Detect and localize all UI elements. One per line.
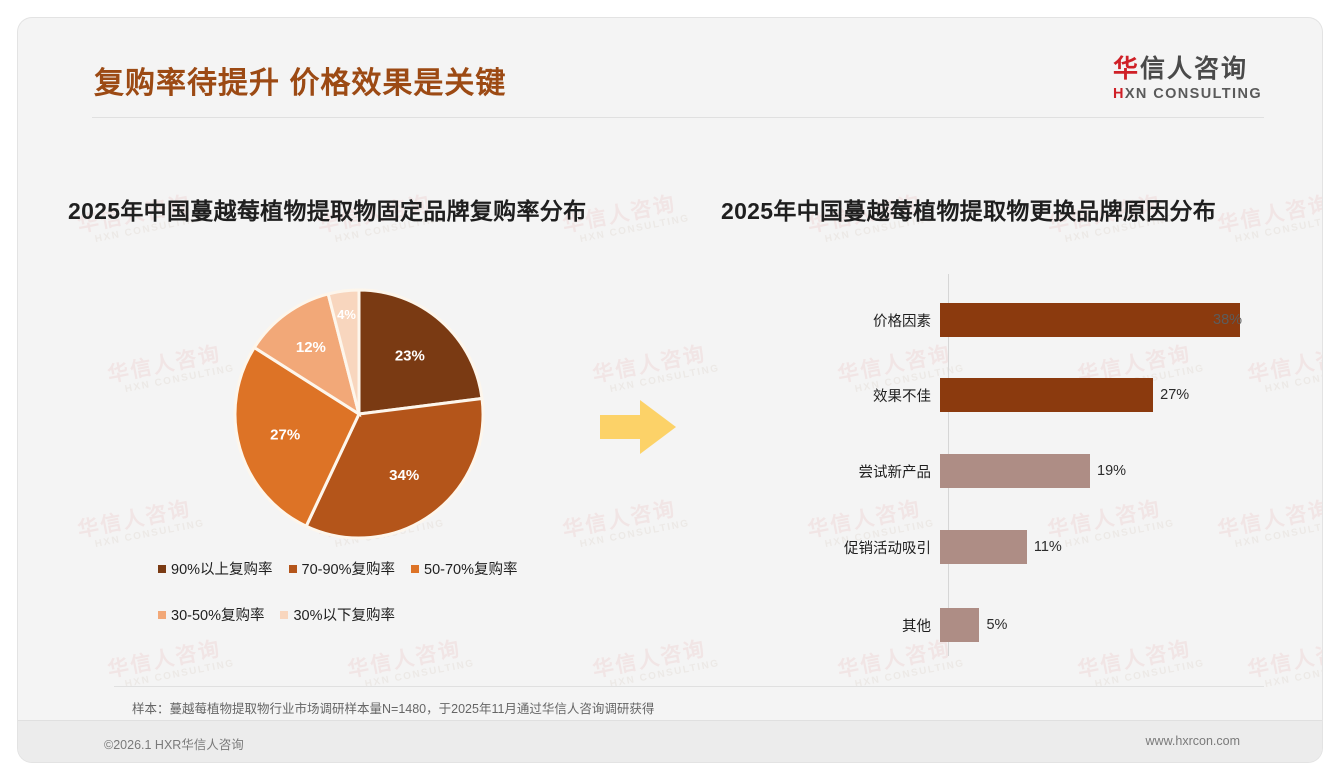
logo-english-rest: XN CONSULTING xyxy=(1125,86,1262,102)
legend-item[interactable]: 50-70%复购率 xyxy=(411,558,517,579)
right-chart-title: 2025年中国蔓越莓植物提取物更换品牌原因分布 xyxy=(721,192,1216,226)
bar-track: 27% xyxy=(940,378,1278,412)
bar-row: 其他5% xyxy=(718,608,1278,642)
pie-slice-label: 12% xyxy=(296,339,326,356)
bar-row: 效果不佳27% xyxy=(718,378,1278,412)
pie-slice-label: 34% xyxy=(389,467,419,484)
bar-value-label: 38% xyxy=(1213,312,1242,328)
watermark-text: 华信人咨询HXN CONSULTING xyxy=(591,636,721,692)
bar-category-label: 尝试新产品 xyxy=(718,461,940,482)
bar-fill[interactable] xyxy=(940,454,1090,488)
legend-label: 90%以上复购率 xyxy=(171,558,273,579)
watermark-text: 华信人咨询HXN CONSULTING xyxy=(1216,191,1322,247)
pie-slice-label: 4% xyxy=(337,307,356,322)
slide-footer: ©2026.1 HXR华信人咨询 www.hxrcon.com xyxy=(18,720,1322,762)
legend-swatch-icon xyxy=(280,611,288,619)
watermark-text: 华信人咨询HXN CONSULTING xyxy=(561,496,691,552)
logo-chinese-rest: 信人咨询 xyxy=(1140,55,1248,83)
bar-value-label: 19% xyxy=(1097,463,1126,479)
pie-svg: 23%34%27%12%4% xyxy=(233,288,485,540)
logo-english-first-char: H xyxy=(1113,86,1125,102)
bar-category-label: 效果不佳 xyxy=(718,385,940,406)
logo-english: HXN CONSULTING xyxy=(1113,86,1262,102)
left-chart-title: 2025年中国蔓越莓植物提取物固定品牌复购率分布 xyxy=(68,192,586,226)
bar-fill[interactable] xyxy=(940,608,979,642)
legend-label: 30-50%复购率 xyxy=(171,604,264,625)
bar-track: 5% xyxy=(940,608,1278,642)
legend-item[interactable]: 30%以下复购率 xyxy=(280,604,395,625)
bar-track: 11% xyxy=(940,530,1278,564)
footnote-text: 样本：蔓越莓植物提取物行业市场调研样本量N=1480，于2025年11月通过华信… xyxy=(132,698,654,717)
logo-chinese: 华信人咨询 xyxy=(1113,56,1262,84)
pie-slice-label: 23% xyxy=(395,347,425,364)
right-arrow-svg xyxy=(600,398,676,456)
pie-slice-label: 27% xyxy=(270,426,300,443)
company-logo: 华信人咨询 HXN CONSULTING xyxy=(1113,56,1262,102)
legend-item[interactable]: 30-50%复购率 xyxy=(158,604,264,625)
right-arrow-icon xyxy=(600,398,676,456)
watermark-text: 华信人咨询HXN CONSULTING xyxy=(591,341,721,397)
page-title: 复购率待提升 价格效果是关键 xyxy=(94,58,506,102)
bar-value-label: 27% xyxy=(1160,387,1189,403)
bar-track: 19% xyxy=(940,454,1278,488)
watermark-text: 华信人咨询HXN CONSULTING xyxy=(76,496,206,552)
watermark-text: 华信人咨询HXN CONSULTING xyxy=(106,341,236,397)
bar-category-label: 价格因素 xyxy=(718,310,940,331)
legend-swatch-icon xyxy=(411,565,419,573)
bar-row: 促销活动吸引11% xyxy=(718,530,1278,564)
legend-swatch-icon xyxy=(289,565,297,573)
header-divider xyxy=(92,117,1264,118)
footnote-divider xyxy=(114,686,1264,687)
repurchase-rate-pie-chart: 23%34%27%12%4% xyxy=(233,288,485,540)
legend-row: 90%以上复购率70-90%复购率50-70%复购率 xyxy=(158,558,588,579)
bar-value-label: 5% xyxy=(986,617,1007,633)
switch-reason-bar-chart: 价格因素38%效果不佳27%尝试新产品19%促销活动吸引11%其他5% xyxy=(718,274,1278,664)
bar-category-label: 其他 xyxy=(718,615,940,636)
bar-value-label: 11% xyxy=(1034,539,1062,555)
footer-website[interactable]: www.hxrcon.com xyxy=(1146,734,1240,748)
legend-item[interactable]: 90%以上复购率 xyxy=(158,558,273,579)
logo-chinese-first-char: 华 xyxy=(1113,55,1140,83)
pie-legend: 90%以上复购率70-90%复购率50-70%复购率30-50%复购率30%以下… xyxy=(158,558,588,650)
legend-label: 30%以下复购率 xyxy=(293,604,395,625)
bar-category-label: 促销活动吸引 xyxy=(718,537,940,558)
legend-item[interactable]: 70-90%复购率 xyxy=(289,558,395,579)
bar-track: 38% xyxy=(940,303,1278,337)
legend-label: 50-70%复购率 xyxy=(424,558,517,579)
legend-swatch-icon xyxy=(158,611,166,619)
bar-fill[interactable] xyxy=(940,303,1240,337)
slide-canvas: 华信人咨询HXN CONSULTING华信人咨询HXN CONSULTING华信… xyxy=(18,18,1322,762)
legend-label: 70-90%复购率 xyxy=(302,558,395,579)
legend-row: 30-50%复购率30%以下复购率 xyxy=(158,604,588,625)
legend-swatch-icon xyxy=(158,565,166,573)
bar-row: 尝试新产品19% xyxy=(718,454,1278,488)
bar-fill[interactable] xyxy=(940,530,1027,564)
bar-row: 价格因素38% xyxy=(718,303,1278,337)
footer-copyright: ©2026.1 HXR华信人咨询 xyxy=(104,734,244,753)
bar-fill[interactable] xyxy=(940,378,1153,412)
